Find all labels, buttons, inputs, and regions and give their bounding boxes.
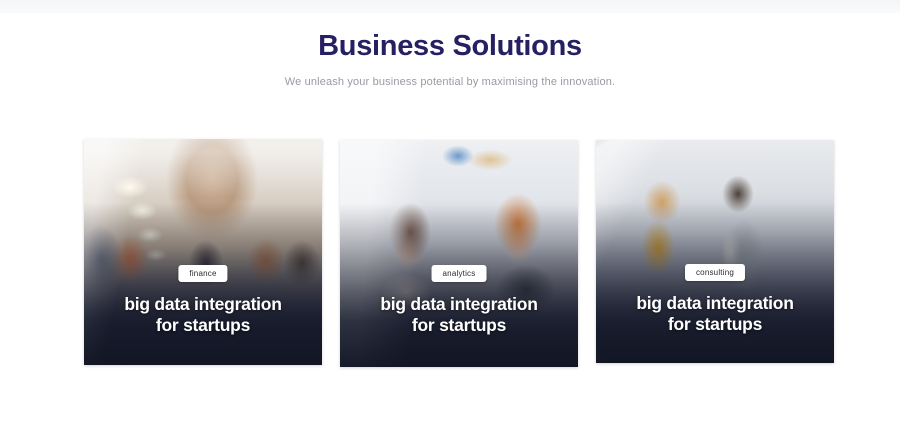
top-band [0, 0, 900, 13]
solution-card-finance[interactable]: finance big data integration for startup… [84, 139, 322, 365]
card-overlay [596, 202, 834, 363]
page-subtitle: We unleash your business potential by ma… [0, 76, 900, 88]
card-headline: big data integration for startups [348, 294, 570, 335]
card-headline-line2: for startups [348, 315, 570, 336]
card-headline-line1: big data integration [380, 294, 537, 314]
card-headline: big data integration for startups [92, 294, 314, 335]
card-headline-line1: big data integration [124, 294, 281, 314]
page-title: Business Solutions [0, 30, 900, 63]
card-tag[interactable]: analytics [432, 265, 487, 282]
card-overlay [340, 204, 578, 367]
card-tag[interactable]: consulting [685, 264, 745, 281]
card-overlay [84, 202, 322, 365]
card-headline-line2: for startups [604, 314, 826, 335]
card-grid: finance big data integration for startup… [0, 139, 900, 371]
card-tag[interactable]: finance [178, 265, 227, 282]
card-headline-line2: for startups [92, 315, 314, 336]
solution-card-consulting[interactable]: consulting big data integration for star… [596, 140, 834, 363]
section-header: Business Solutions We unleash your busin… [0, 30, 900, 88]
solution-card-analytics[interactable]: analytics big data integration for start… [340, 140, 578, 367]
card-headline: big data integration for startups [604, 293, 826, 334]
card-headline-line1: big data integration [636, 293, 793, 313]
page-root: Business Solutions We unleash your busin… [0, 0, 900, 431]
